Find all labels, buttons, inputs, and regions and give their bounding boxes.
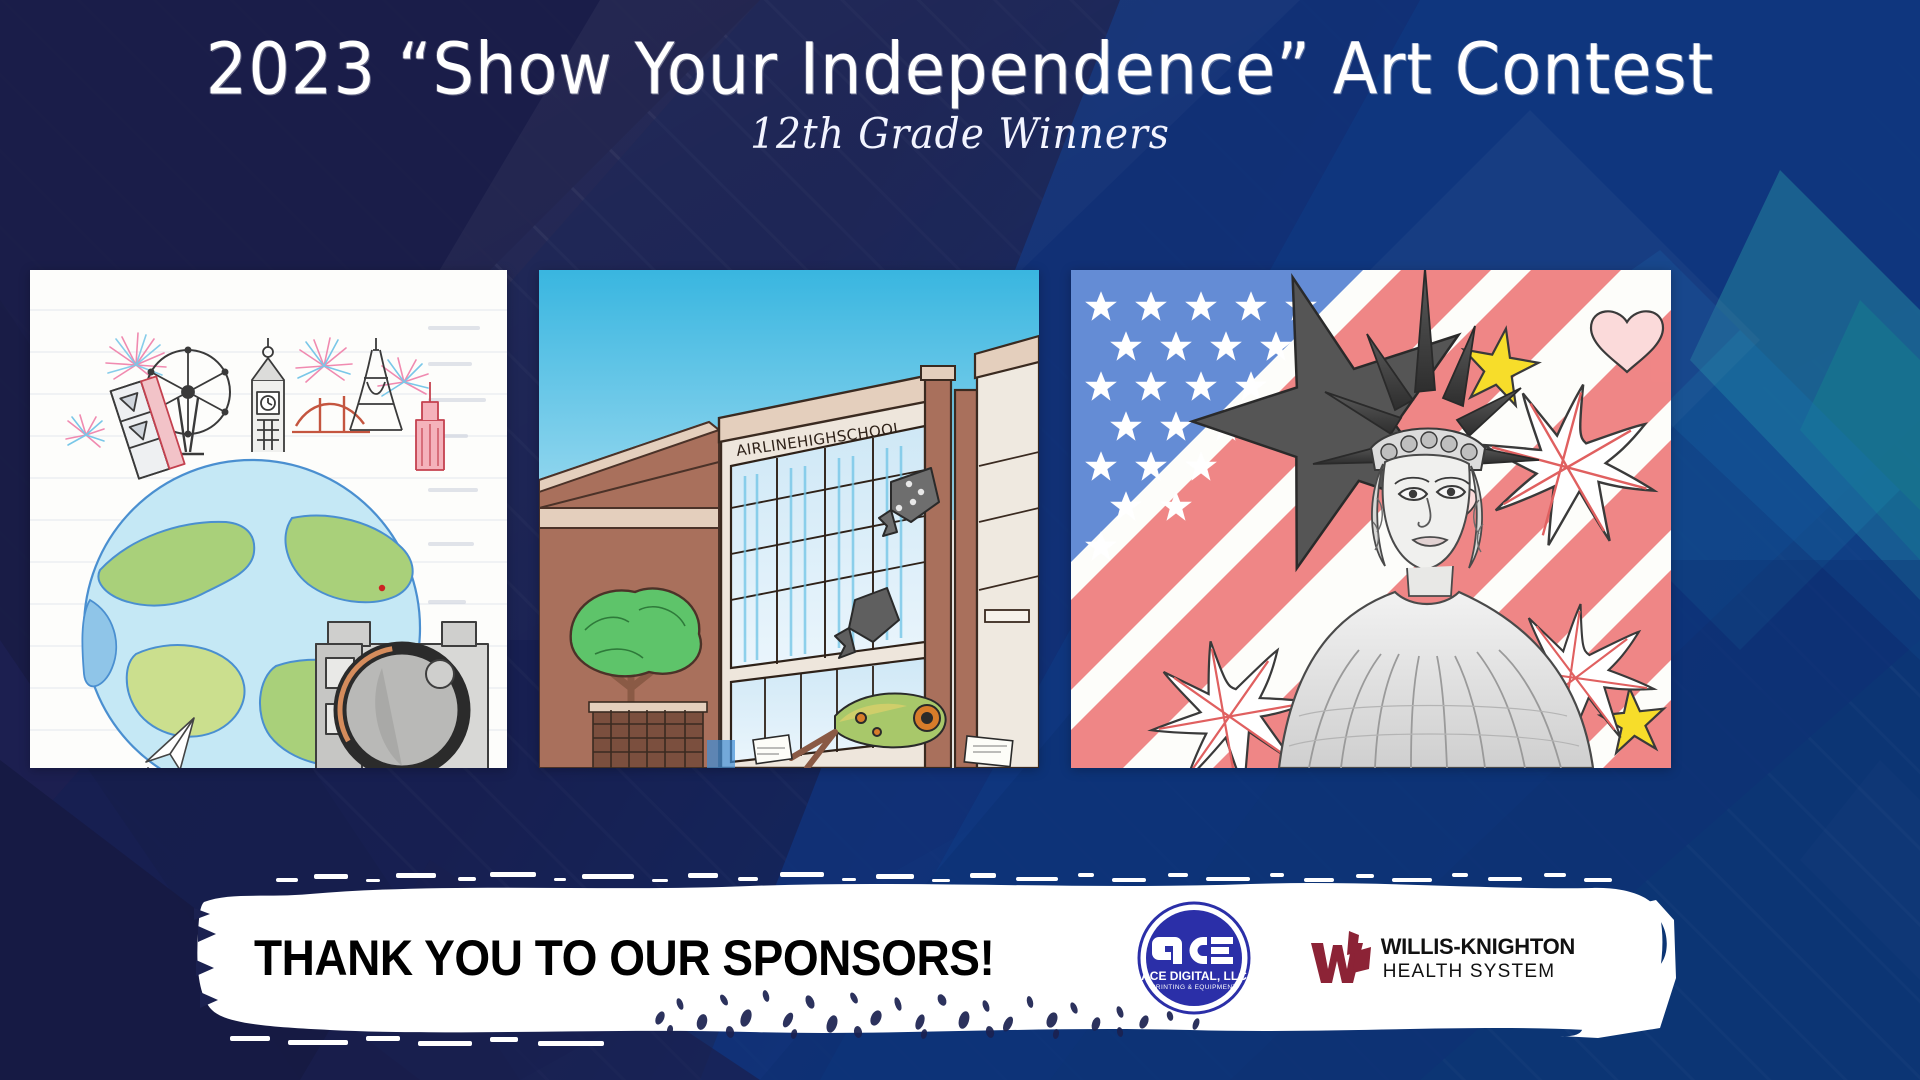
willis-knighton-logo[interactable]: WILLIS-KNIGHTON HEALTH SYSTEM <box>1309 906 1509 1010</box>
wk-name: WILLIS-KNIGHTON <box>1381 936 1575 958</box>
wk-flag-mark-icon <box>1309 929 1375 987</box>
sponsor-banner: THANK YOU TO OUR SPONSORS! ACE DIGITAL, … <box>190 868 1690 1048</box>
artwork-card-1[interactable] <box>30 270 507 768</box>
artwork-card-3[interactable] <box>1071 270 1671 768</box>
sponsors-heading: THANK YOU TO OUR SPONSORS! <box>254 929 994 987</box>
ace-digital-name: ACE DIGITAL, LLC <box>1141 969 1247 983</box>
wk-subtitle: HEALTH SYSTEM <box>1383 962 1575 981</box>
artwork-image-3 <box>1071 270 1671 768</box>
artwork-card-2[interactable]: AIRLINEHIGHSCHOOL <box>539 270 1039 768</box>
artwork-image-1 <box>30 270 507 768</box>
artwork-gallery: AIRLINEHIGHSCHOOL <box>30 270 1890 768</box>
ace-digital-tagline: PRINTING & EQUIPMENT <box>1151 984 1237 991</box>
artwork-image-2: AIRLINEHIGHSCHOOL <box>539 270 1039 768</box>
ace-digital-logo[interactable]: ACE DIGITAL, LLC PRINTING & EQUIPMENT <box>1135 899 1253 1017</box>
